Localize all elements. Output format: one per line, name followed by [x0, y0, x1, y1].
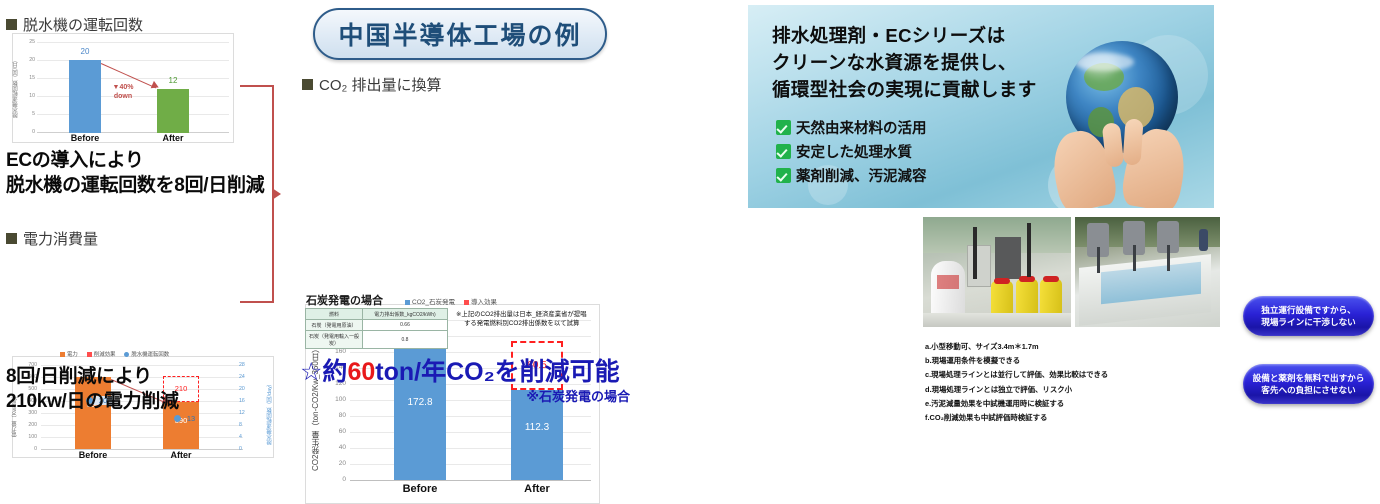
check-icon: [776, 168, 791, 183]
legend-label-power: 電力: [67, 352, 78, 358]
gridline: [350, 480, 591, 481]
y-tick: 20: [326, 460, 346, 467]
photo-person: [1199, 229, 1208, 251]
feature-bullet-list: a.小型移動可、サイズ3.4m＊1.7m b.現場運用条件を模擬できる c.現場…: [925, 340, 1108, 425]
gridline: [37, 114, 229, 115]
photo-cabinet: [967, 245, 991, 287]
badge-line1: 設備と薬剤を無料で出すから: [1253, 373, 1365, 383]
gridline: [37, 42, 229, 43]
y2-tick: 0: [239, 446, 257, 452]
list-item: c.現場処理ラインとは並行して評価、効果比較はできる: [925, 368, 1108, 382]
table-header-coefficient: 電力排出係数_kgCO2/kWh): [363, 309, 448, 320]
y-tick: 10: [19, 93, 35, 99]
table-cell-coefficient: 0.66: [363, 320, 448, 331]
badge-free-equipment: 設備と薬剤を無料で出すから 客先への負担にさせない: [1243, 364, 1374, 404]
list-item: 薬剤削減、汚泥減容: [776, 165, 927, 186]
photo-pipe: [1027, 223, 1031, 277]
chart-dewatering-runs: 25 20 15 10 5 0 脱水機運転回数（回/日） 20 12 ▼40% …: [12, 33, 234, 143]
photo-tank-white: [931, 261, 965, 317]
legend-swatch-runs: [124, 352, 129, 357]
decrease-annotation-line1: ▼40%: [99, 84, 147, 91]
photo-shaft: [1133, 245, 1136, 271]
co2-summary-pre: 約: [322, 358, 347, 386]
category-label-after: After: [503, 483, 571, 495]
caption-power-line2: 210kw/日の電力削減: [6, 389, 179, 414]
badge-text: 独立運行設備ですから、 現場ラインに干渉しない: [1261, 304, 1356, 329]
gridline: [37, 60, 229, 61]
legend-label-co2-coal: CO2_石炭発電: [412, 299, 455, 306]
y-tick: 15: [19, 75, 35, 81]
legend-swatch-co2-coal: [405, 300, 410, 305]
legend-swatch-co2-effect: [464, 300, 469, 305]
bar-before: [69, 60, 101, 133]
legend-label-runs: 脱水機運転回数: [131, 352, 169, 358]
photo-tank-yellow: [1016, 279, 1038, 315]
table-cell-coefficient: 0.8: [363, 331, 448, 349]
connector-bracket: [240, 85, 274, 303]
photo-tank-cap: [994, 278, 1010, 284]
coal-caption: 石炭発電の場合: [306, 292, 383, 308]
list-item: a.小型移動可、サイズ3.4m＊1.7m: [925, 340, 1108, 354]
gridline: [41, 437, 243, 438]
table-cell-fuel: 石炭（発電用原油）: [306, 320, 363, 331]
photo-shaft: [1167, 245, 1170, 271]
category-label-after: After: [153, 450, 209, 460]
coal-note: ※上記のCO2排出量は日本_経済産業省が提唱 する発電燃料別CO2排出係数を以て…: [456, 310, 606, 329]
table-row: 石炭（発電用輸入一般炭） 0.8: [306, 331, 448, 349]
y-tick: 80: [326, 412, 346, 419]
y2-tick: 28: [239, 362, 257, 368]
feature-label: 薬剤削減、汚泥減容: [796, 165, 927, 186]
caption-dewatering-line1: ECの導入により: [6, 148, 264, 173]
category-label-before: Before: [386, 483, 454, 495]
y-tick: 40: [326, 444, 346, 451]
coal-note-line1: ※上記のCO2排出量は日本_経済産業省が提唱: [456, 310, 606, 319]
badge-line1: 独立運行設備ですから、: [1261, 305, 1356, 315]
legend-co2-chart: CO2_石炭発電 導入効果: [405, 296, 497, 306]
list-item: 天然由来材料の活用: [776, 117, 927, 138]
globe-highlight: [1080, 51, 1118, 77]
table-header-fuel: 燃料: [306, 309, 363, 320]
y-tick: 60: [326, 428, 346, 435]
legend-item-runs: 脱水機運転回数: [124, 350, 169, 358]
y2-tick: 12: [239, 410, 257, 416]
feature-label: 天然由来材料の活用: [796, 117, 927, 138]
y2-tick: 24: [239, 374, 257, 380]
legend-label-co2-effect: 導入効果: [471, 299, 497, 306]
caption-power-line1: 8回/日削減により: [6, 364, 179, 389]
y2-tick: 8: [239, 422, 257, 428]
y-tick: 20: [19, 57, 35, 63]
bar-value-before: 20: [63, 47, 107, 56]
legend-label-reduction: 削減効果: [94, 352, 116, 358]
legend-item-co2-coal: CO2_石炭発電: [405, 296, 455, 306]
co2-summary-note: ※石炭発電の場合: [300, 386, 630, 405]
co2-summary: ☆約60ton/年CO₂を削減可能 ※石炭発電の場合: [300, 352, 630, 405]
y2-axis-title: 脱水機運転回数（回/day）: [266, 377, 274, 445]
list-item: f.CO₂削減効果も中試評価時検証する: [925, 411, 1108, 425]
photo-shaft: [1097, 247, 1100, 273]
center-title-label: 中国半導体工場の例: [338, 16, 581, 52]
y-tick: 0: [326, 476, 346, 483]
category-label-before: Before: [65, 450, 121, 460]
co2-summary-number: 60: [347, 358, 375, 386]
promo-banner: 排水処理剤・ECシリーズは クリーンな水資源を提供し、 循環型社会の実現に貢献し…: [748, 5, 1214, 208]
caption-dewatering-line2: 脱水機の運転回数を8回/日削減: [6, 173, 264, 198]
category-label-before: Before: [57, 133, 113, 143]
marker-runs-after: [174, 415, 181, 422]
photo-cabinet: [995, 237, 1021, 279]
banner-text-line2: クリーンな水資源を提供し、: [772, 50, 1037, 77]
banner-text-line3: 循環型社会の実現に貢献します: [772, 77, 1037, 104]
co2-summary-star: ☆: [300, 358, 322, 386]
center-title-pill: 中国半導体工場の例: [313, 8, 607, 60]
list-item: b.現場運用条件を模擬できる: [925, 354, 1108, 368]
table-header-row: 燃料 電力排出係数_kgCO2/kWh): [306, 309, 448, 320]
bullet-square-icon: [302, 79, 313, 90]
caption-power: 8回/日削減により 210kw/日の電力削減: [6, 364, 179, 414]
y2-tick: 16: [239, 398, 257, 404]
badge-line2: 客先への負担にさせない: [1261, 385, 1355, 395]
photo-treatment-skid: [923, 217, 1071, 327]
check-icon: [776, 144, 791, 159]
y-tick: 100: [19, 434, 37, 440]
photo-pipe: [973, 227, 977, 279]
table-cell-fuel: 石炭（発電用輸入一般炭）: [306, 331, 363, 349]
bullet-square-icon: [6, 233, 17, 244]
caption-dewatering: ECの導入により 脱水機の運転回数を8回/日削減: [6, 148, 264, 198]
co2-summary-main: ☆約60ton/年CO₂を削減可能: [300, 352, 630, 388]
badge-text: 設備と薬剤を無料で出すから 客先への負担にさせない: [1253, 372, 1365, 397]
y-tick: 5: [19, 111, 35, 117]
list-item: d.現場処理ラインとは独立で評価、リスク小: [925, 383, 1108, 397]
banner-text: 排水処理剤・ECシリーズは クリーンな水資源を提供し、 循環型社会の実現に貢献し…: [772, 23, 1037, 103]
category-label-after: After: [145, 133, 201, 143]
legend-swatch-reduction: [87, 352, 92, 357]
y-tick: 0: [19, 446, 37, 452]
section-title-co2-label: CO₂ 排出量に換算: [319, 74, 442, 95]
connector-arrow-icon: [272, 188, 281, 200]
coal-note-line2: する発電燃料別CO2排出係数を以て試算: [456, 319, 606, 328]
list-item: 安定した処理水質: [776, 141, 927, 162]
list-item: e.汚泥減量効果を中試機運用時に検証する: [925, 397, 1108, 411]
banner-feature-list: 天然由来材料の活用 安定した処理水質 薬剤削減、汚泥減容: [776, 117, 927, 186]
legend-swatch-power: [60, 352, 65, 357]
y-axis-title: 脱水機運転回数（回/日）: [12, 56, 20, 118]
photo-tank-label: [937, 275, 959, 289]
section-title-co2: CO₂ 排出量に換算: [302, 74, 442, 95]
hand-finger: [1122, 118, 1143, 165]
badge-line2: 現場ラインに干渉しない: [1261, 317, 1356, 327]
gridline: [41, 425, 243, 426]
check-icon: [776, 120, 791, 135]
coal-coefficient-table: 燃料 電力排出係数_kgCO2/kWh) 石炭（発電用原油） 0.66 石炭（発…: [305, 308, 448, 349]
decrease-annotation-line2: down: [99, 93, 147, 100]
y-tick: 25: [19, 39, 35, 45]
photo-treatment-tank: [1075, 217, 1220, 327]
bullet-square-icon: [6, 19, 17, 30]
photo-base: [923, 313, 1071, 327]
y-tick: 200: [19, 422, 37, 428]
photo-tank-cap: [1043, 276, 1059, 282]
bar-label-co2-after: 112.3: [507, 422, 567, 433]
feature-label: 安定した処理水質: [796, 141, 912, 162]
y-tick: 0: [19, 129, 35, 135]
section-title-power-label: 電力消費量: [23, 228, 98, 249]
bar-after: [157, 89, 189, 133]
table-row: 石炭（発電用原油） 0.66: [306, 320, 448, 331]
y2-tick: 20: [239, 386, 257, 392]
y2-tick: 4: [239, 434, 257, 440]
banner-text-line1: 排水処理剤・ECシリーズは: [772, 23, 1037, 50]
legend-item-power: 電力: [60, 350, 78, 358]
legend-item-reduction: 削減効果: [87, 350, 116, 358]
section-title-power: 電力消費量: [6, 228, 98, 249]
badge-independent-operation: 独立運行設備ですから、 現場ラインに干渉しない: [1243, 296, 1374, 336]
legend-power-chart: 電力 削減効果 脱水機運転回数: [60, 350, 169, 358]
photo-tank-yellow: [1040, 279, 1062, 315]
section-title-dewatering-label: 脱水機の運転回数: [23, 14, 143, 35]
legend-item-co2-effect: 導入効果: [464, 296, 497, 306]
co2-summary-post: ton/年CO₂を削減可能: [375, 358, 619, 386]
section-title-dewatering: 脱水機の運転回数: [6, 14, 143, 35]
